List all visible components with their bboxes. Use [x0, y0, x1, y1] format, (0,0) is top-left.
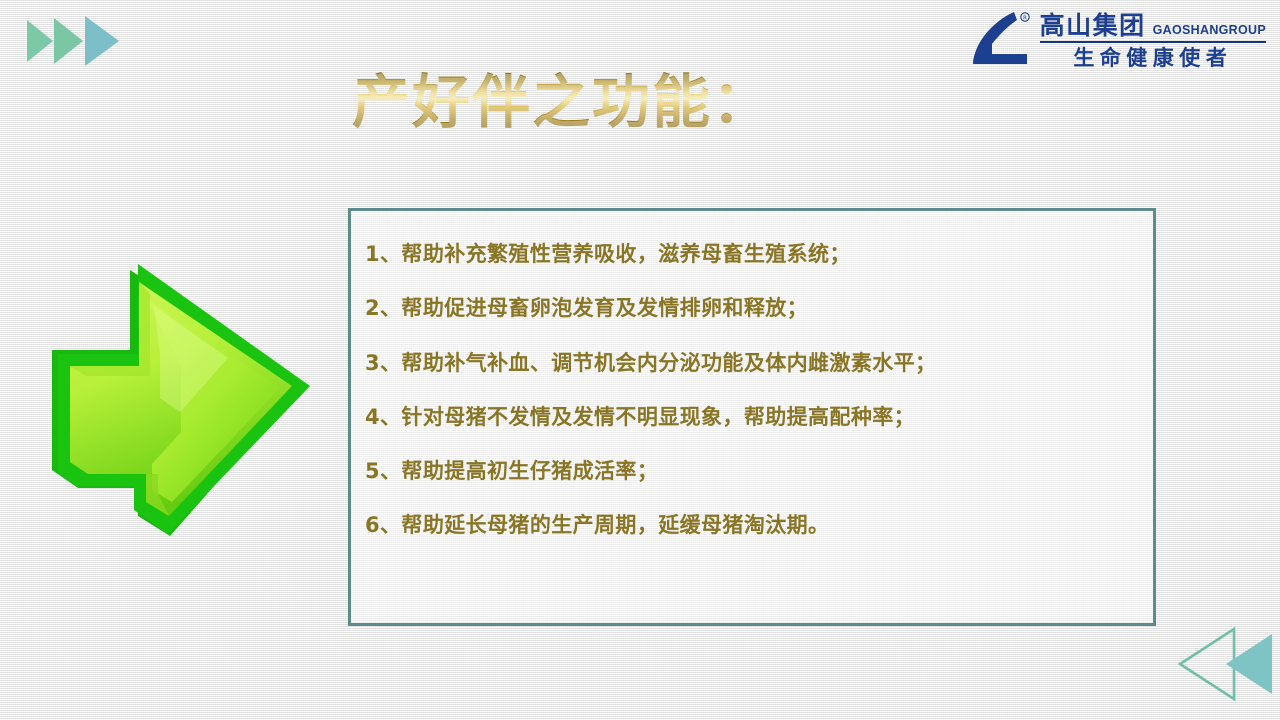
logo-primary-line: 高山集团 GAOSHANGROUP — [1040, 13, 1266, 43]
list-item-text: 帮助促进母畜卵泡发育及发情排卵和释放； — [401, 295, 808, 321]
list-item-index: 4、 — [365, 404, 401, 430]
feature-list-box: 1、 帮助补充繁殖性营养吸收，滋养母畜生殖系统； 2、 帮助促进母畜卵泡发育及发… — [348, 208, 1156, 626]
logo-tagline: 生命健康使者 — [1040, 43, 1266, 69]
logo-company-name-en: GAOSHANGROUP — [1153, 24, 1266, 39]
list-item: 2、 帮助促进母畜卵泡发育及发情排卵和释放； — [365, 295, 1131, 321]
triangle-right-icon-2 — [54, 18, 83, 64]
svg-text:R: R — [1023, 16, 1027, 22]
list-item-text: 帮助补充繁殖性营养吸收，滋养母畜生殖系统； — [401, 241, 850, 267]
list-item-index: 2、 — [365, 295, 401, 321]
company-logo: R 高山集团 GAOSHANGROUP 生命健康使者 — [970, 8, 1266, 74]
list-item-text: 帮助补气补血、调节机会内分泌功能及体内雌激素水平； — [401, 350, 936, 376]
list-item-index: 1、 — [365, 241, 401, 267]
decorative-triangles-bottom-right — [1176, 626, 1280, 706]
list-item: 6、 帮助延长母猪的生产周期，延缓母猪淘汰期。 — [365, 512, 1131, 538]
list-item-index: 5、 — [365, 458, 401, 484]
list-item-index: 3、 — [365, 350, 401, 376]
list-item-text: 帮助延长母猪的生产周期，延缓母猪淘汰期。 — [401, 512, 829, 538]
gaoshan-mountain-mark-icon: R — [970, 8, 1032, 74]
logo-company-name-cn: 高山集团 — [1040, 13, 1146, 38]
logo-text-block: 高山集团 GAOSHANGROUP 生命健康使者 — [1040, 13, 1266, 69]
decorative-triangles-top-left — [27, 14, 137, 66]
slide-title: 产好伴之功能： — [352, 72, 772, 133]
list-item-index: 6、 — [365, 512, 401, 538]
green-3d-arrow-right-icon — [42, 258, 314, 546]
list-item-text: 帮助提高初生仔猪成活率； — [401, 458, 658, 484]
list-item: 5、 帮助提高初生仔猪成活率； — [365, 458, 1131, 484]
list-item: 3、 帮助补气补血、调节机会内分泌功能及体内雌激素水平； — [365, 350, 1131, 376]
triangle-left-outline-icon — [1180, 629, 1234, 699]
triangle-right-icon-3 — [85, 16, 119, 66]
list-item: 1、 帮助补充繁殖性营养吸收，滋养母畜生殖系统； — [365, 241, 1131, 267]
list-item: 4、 针对母猪不发情及发情不明显现象，帮助提高配种率； — [365, 404, 1131, 430]
list-item-text: 针对母猪不发情及发情不明显现象，帮助提高配种率； — [401, 404, 915, 430]
triangle-right-icon-1 — [27, 20, 53, 62]
presentation-slide: R 高山集团 GAOSHANGROUP 生命健康使者 产好伴之功能： — [0, 0, 1280, 720]
